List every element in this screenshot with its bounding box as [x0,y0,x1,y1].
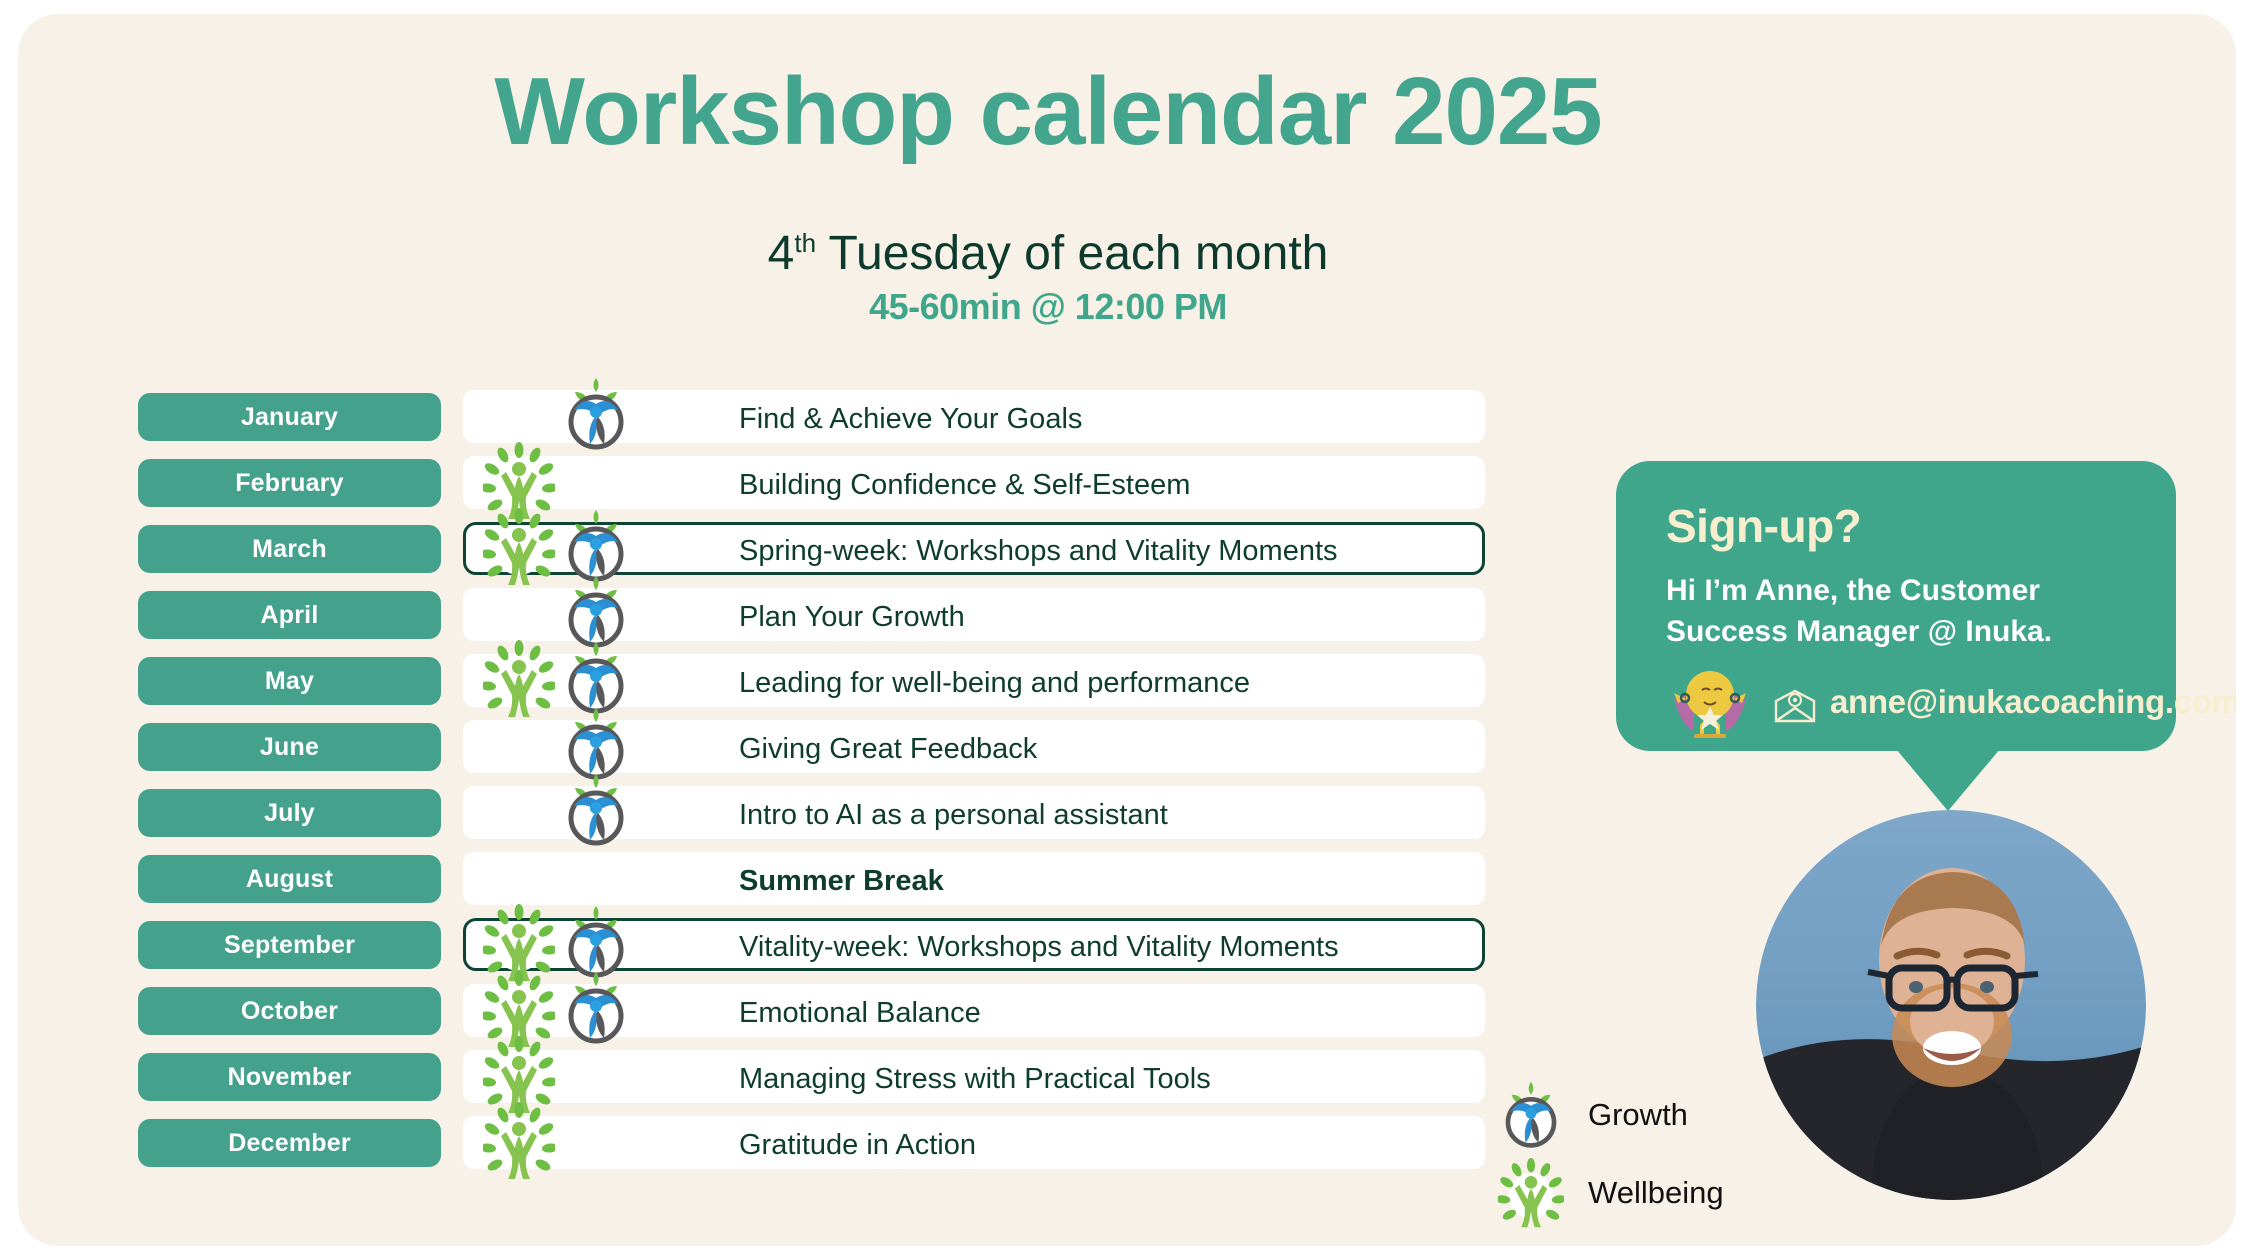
workshop-track[interactable]: Vitality-week: Workshops and Vitality Mo… [463,918,1485,971]
workshop-track[interactable]: Plan Your Growth [463,588,1485,641]
schedule-subtitle: 4th Tuesday of each month [18,226,2078,281]
legend: Growth Wellbeing [1498,1076,1724,1232]
wellbeing-icon [1498,1158,1564,1228]
month-pill-february[interactable]: February [138,459,441,507]
signup-title: Sign-up? [1666,499,1861,553]
month-pill-may[interactable]: May [138,657,441,705]
workshop-title: Spring-week: Workshops and Vitality Mome… [739,525,1338,578]
workshop-title: Find & Achieve Your Goals [739,393,1082,446]
workshop-track[interactable]: Summer Break [463,852,1485,905]
avatar [1756,810,2146,1200]
workshop-track[interactable]: Find & Achieve Your Goals [463,390,1485,443]
workshop-title: Managing Stress with Practical Tools [739,1053,1211,1106]
month-pill-october[interactable]: October [138,987,441,1035]
page-title: Workshop calendar 2025 [18,62,2078,163]
wellbeing-icon [1498,1158,1564,1230]
calendar-row[interactable]: JulyIntro to AI as a personal assistant [138,786,1488,852]
legend-item-wellbeing: Wellbeing [1498,1154,1724,1232]
calendar-row[interactable]: AprilPlan Your Growth [138,588,1488,654]
workshop-track[interactable]: Building Confidence & Self-Esteem [463,456,1485,509]
duration-subtitle: 45-60min @ 12:00 PM [18,286,2078,328]
growth-icon [1498,1080,1564,1150]
month-pill-december[interactable]: December [138,1119,441,1167]
workshop-title: Leading for well-being and performance [739,657,1250,710]
subtitle-rest: Tuesday of each month [816,227,1328,280]
calendar-row[interactable]: JanuaryFind & Achieve Your Goals [138,390,1488,456]
poster-card: Workshop calendar 2025 4th Tuesday of ea… [18,14,2236,1246]
workshop-track[interactable]: Spring-week: Workshops and Vitality Mome… [463,522,1485,575]
month-pill-july[interactable]: July [138,789,441,837]
growth-icon [1498,1080,1564,1150]
calendar-row[interactable]: DecemberGratitude in Action [138,1116,1488,1182]
month-pill-september[interactable]: September [138,921,441,969]
workshop-track[interactable]: Giving Great Feedback [463,720,1485,773]
workshop-track[interactable]: Emotional Balance [463,984,1485,1037]
calendar-row[interactable]: FebruaryBuilding Confidence & Self-Estee… [138,456,1488,522]
signup-body: Hi I’m Anne, the Customer Success Manage… [1666,571,2156,652]
workshop-track[interactable]: Leading for well-being and performance [463,654,1485,707]
month-pill-june[interactable]: June [138,723,441,771]
workshop-title: Building Confidence & Self-Esteem [739,459,1190,512]
workshop-title: Emotional Balance [739,987,981,1040]
calendar-row[interactable]: MayLeading for well-being and performanc… [138,654,1488,720]
workshop-title: Vitality-week: Workshops and Vitality Mo… [739,921,1339,974]
month-pill-january[interactable]: January [138,393,441,441]
subtitle-number: 4 [768,227,795,280]
contact-email[interactable]: anne@inukacoaching.com [1830,683,2236,721]
calendar-row[interactable]: AugustSummer Break [138,852,1488,918]
bubble-tail [1896,749,2000,811]
workshop-title: Summer Break [739,855,944,908]
signup-bubble: Sign-up? Hi I’m Anne, the Customer Succe… [1616,461,2176,751]
calendar-row[interactable]: JuneGiving Great Feedback [138,720,1488,786]
calendar-row[interactable]: MarchSpring-week: Workshops and Vitality… [138,522,1488,588]
subtitle-ordinal: th [794,228,816,258]
workshop-title: Intro to AI as a personal assistant [739,789,1168,842]
calendar-row[interactable]: OctoberEmotional Balance [138,984,1488,1050]
calendar-row[interactable]: NovemberManaging Stress with Practical T… [138,1050,1488,1116]
superhero-mascot-icon [1664,669,1756,741]
legend-item-growth: Growth [1498,1076,1724,1154]
month-pill-november[interactable]: November [138,1053,441,1101]
month-pill-august[interactable]: August [138,855,441,903]
workshop-track[interactable]: Gratitude in Action [463,1116,1485,1169]
workshop-calendar-list: JanuaryFind & Achieve Your Goals Februar… [138,390,1488,1182]
month-pill-march[interactable]: March [138,525,441,573]
workshop-title: Gratitude in Action [739,1119,976,1172]
legend-label: Growth [1588,1097,1688,1133]
workshop-track[interactable]: Managing Stress with Practical Tools [463,1050,1485,1103]
workshop-track[interactable]: Intro to AI as a personal assistant [463,786,1485,839]
workshop-title: Plan Your Growth [739,591,965,644]
envelope-at-icon [1774,689,1816,723]
month-pill-april[interactable]: April [138,591,441,639]
legend-label: Wellbeing [1588,1175,1724,1211]
workshop-title: Giving Great Feedback [739,723,1037,776]
calendar-row[interactable]: SeptemberVitality-week: Workshops and Vi… [138,918,1488,984]
